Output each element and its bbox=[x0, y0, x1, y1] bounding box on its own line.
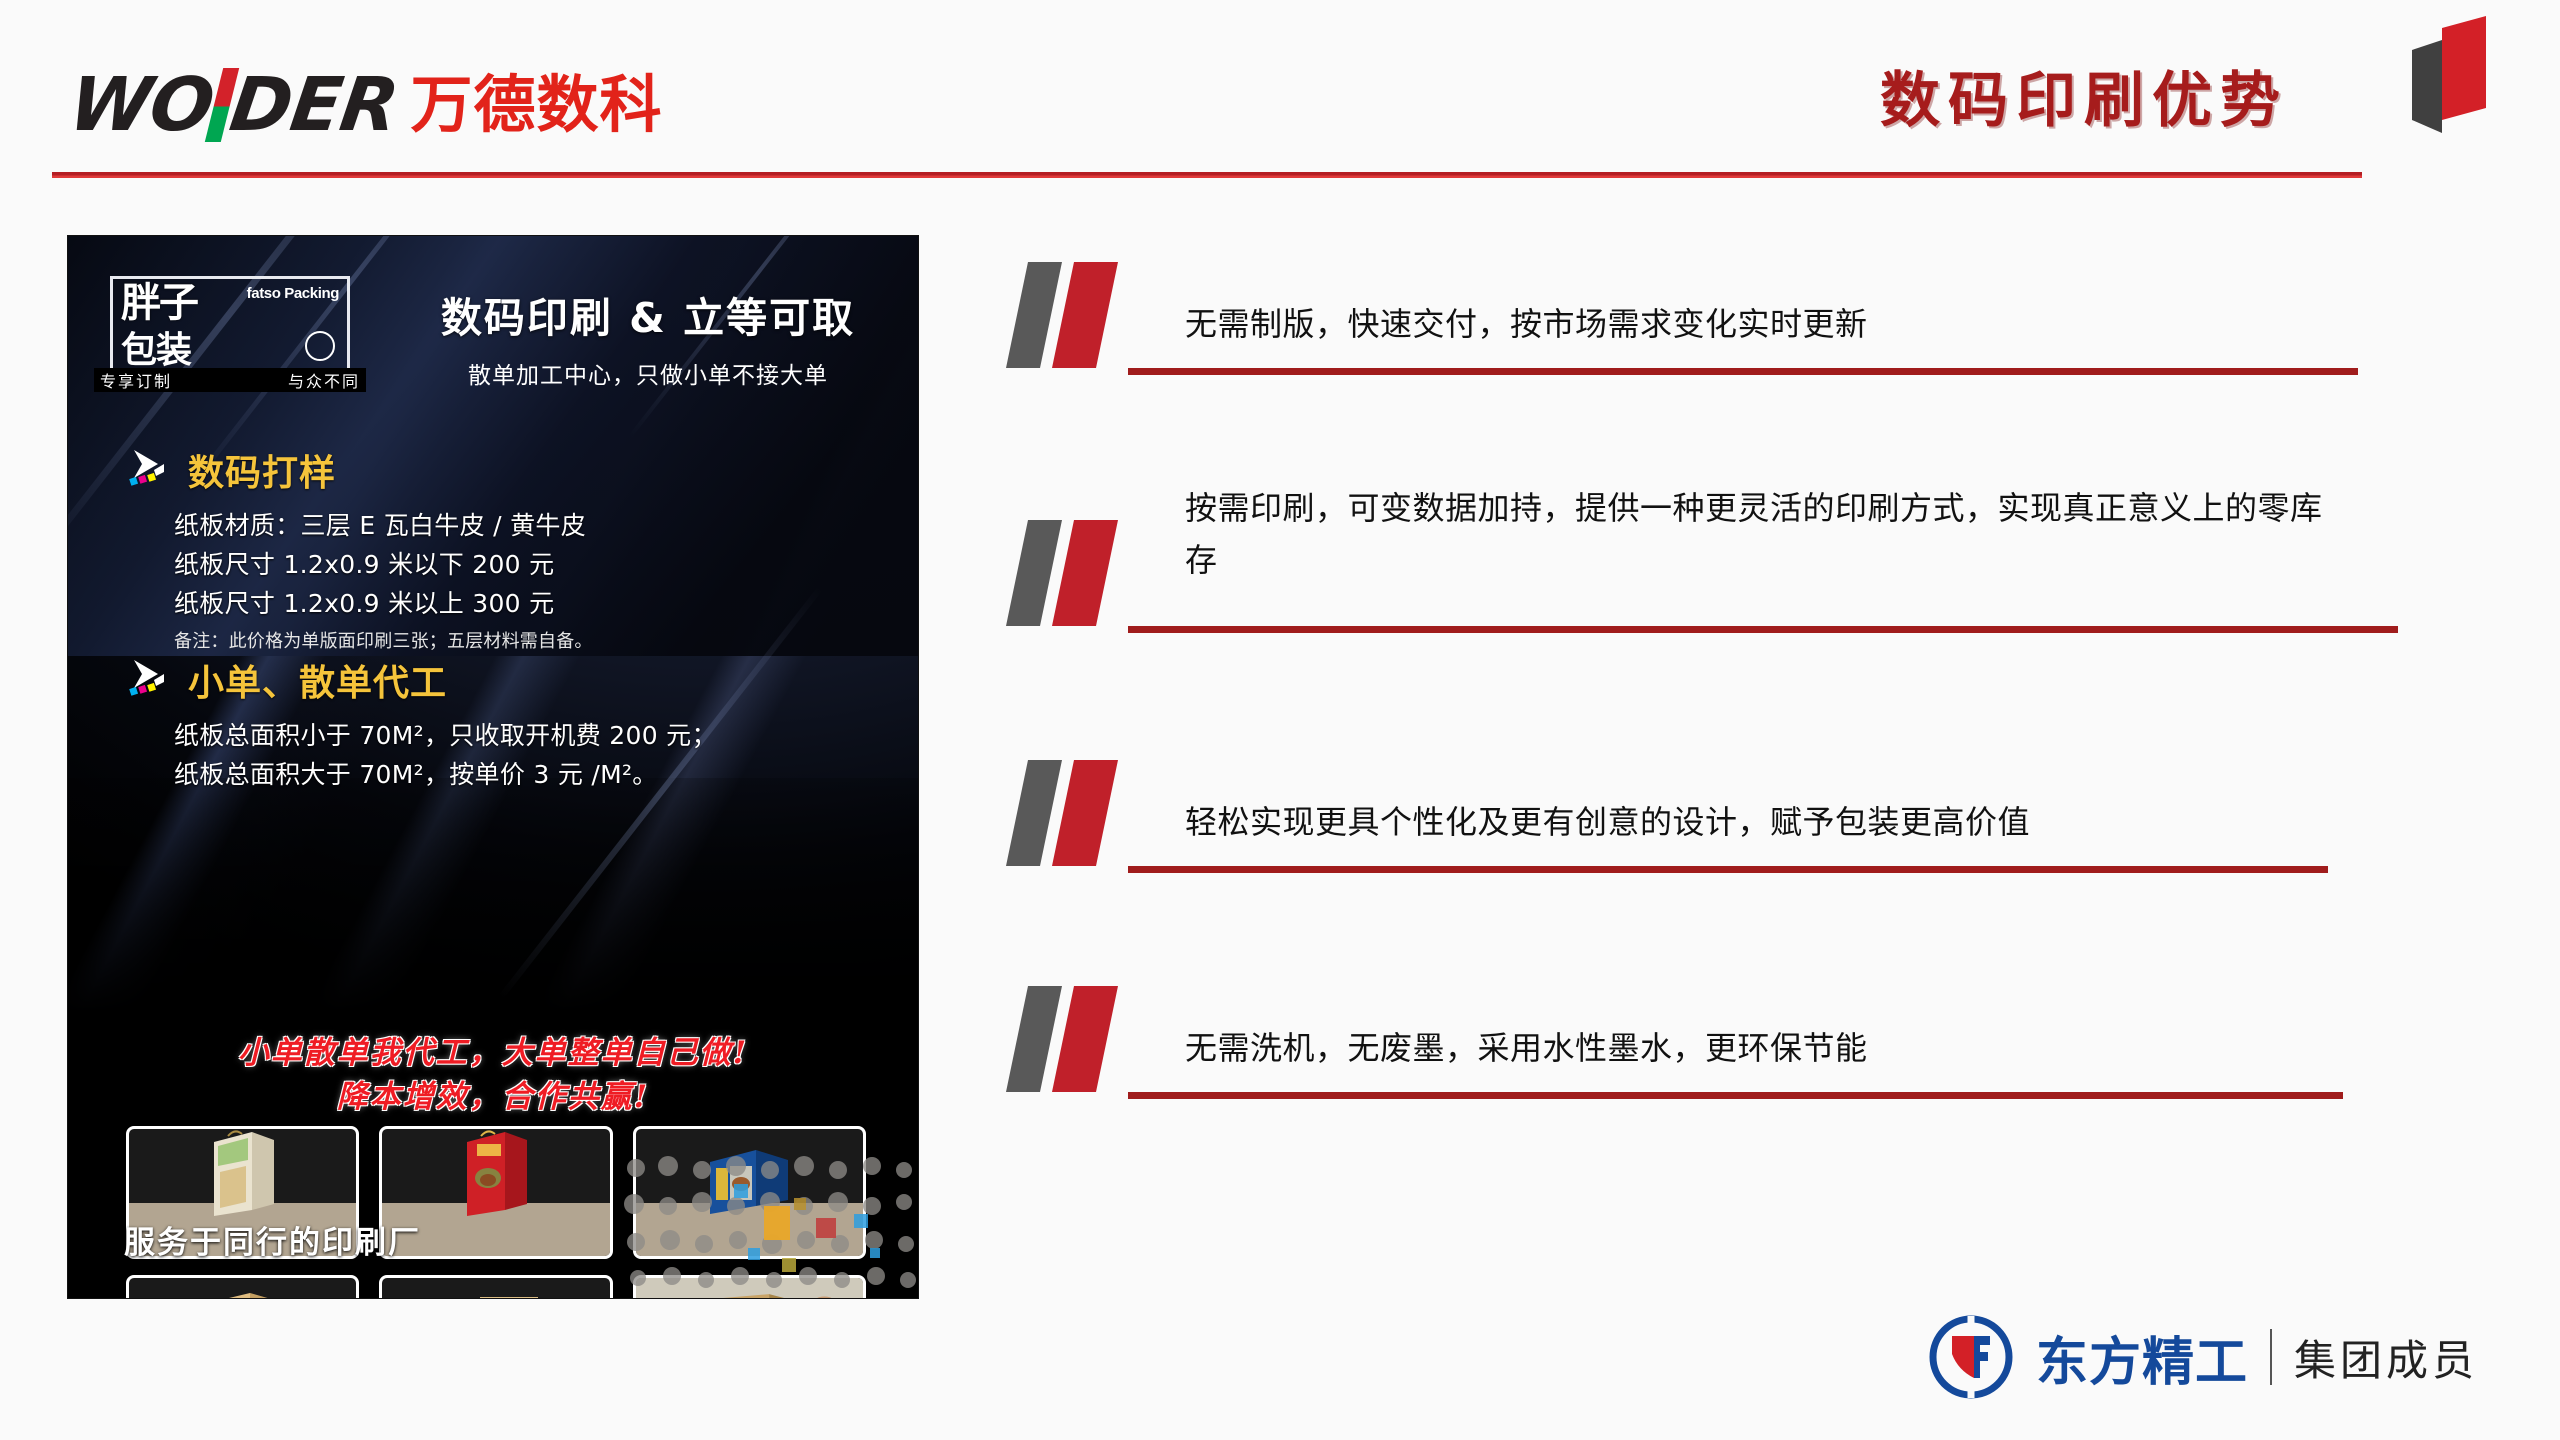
section-title: 数码打样 bbox=[188, 444, 336, 496]
product-box-kraft-icon bbox=[200, 1287, 286, 1298]
advantage-text: 按需印刷，可变数据加持，提供一种更灵活的印刷方式，实现真正意义上的零库存 bbox=[1185, 480, 2325, 594]
section-line: 纸板尺寸 1.2x0.9 米以下 200 元 bbox=[174, 545, 868, 584]
gallery-item bbox=[126, 1275, 359, 1298]
product-box-red-icon bbox=[457, 1126, 535, 1218]
product-box-honey-icon bbox=[204, 1126, 282, 1218]
advantage-text: 无需洗机，无废墨，采用水性墨水，更环保节能 bbox=[1185, 980, 2360, 1082]
fatso-tagline-left: 专享订制 bbox=[100, 368, 172, 392]
poster-subheading: 散单加工中心，只做小单不接大单 bbox=[398, 356, 898, 390]
section-line: 纸板总面积小于 70M²，只收取开机费 200 元； bbox=[174, 716, 868, 755]
poster-heading-block: 数码印刷 & 立等可取 散单加工中心，只做小单不接大单 bbox=[398, 284, 898, 390]
double-parallelogram-marker-icon bbox=[1000, 256, 1160, 374]
poster-heading: 数码印刷 & 立等可取 bbox=[398, 284, 898, 344]
advantage-text: 轻松实现更具个性化及更有创意的设计，赋予包装更高价值 bbox=[1185, 754, 2360, 856]
slogan-line-2: 降本增效，合作共赢! bbox=[68, 1075, 918, 1119]
advantages-list: 无需制版，快速交付，按市场需求变化实时更新 按需印刷，可变数据加持，提供一种更灵… bbox=[1000, 256, 2360, 1150]
section-line: 纸板尺寸 1.2x0.9 米以上 300 元 bbox=[174, 584, 868, 623]
section-body: 纸板总面积小于 70M²，只收取开机费 200 元； 纸板总面积大于 70M²，… bbox=[174, 716, 868, 794]
slide-root: WO DER 万德数科 数码印刷优势 胖子 fatso Packing 包装 专… bbox=[0, 0, 2560, 1440]
product-box-classic-icon bbox=[446, 1287, 546, 1298]
poster-slogan: 小单散单我代工，大单整单自己做! 降本增效，合作共赢! bbox=[68, 1031, 918, 1119]
slogan-line-1: 小单散单我代工，大单整单自己做! bbox=[68, 1031, 918, 1075]
section-line: 纸板总面积大于 70M²，按单价 3 元 /M²。 bbox=[174, 755, 868, 794]
page-title: 数码印刷优势 bbox=[1880, 52, 2288, 139]
promo-poster-image: 胖子 fatso Packing 包装 专享订制 与众不同 数码印刷 & 立等可… bbox=[68, 236, 918, 1298]
fatso-logo-en: fatso Packing bbox=[247, 285, 339, 302]
footer-divider bbox=[2270, 1329, 2272, 1385]
corner-parallelogram-mark-icon bbox=[2382, 8, 2502, 148]
advantage-underline bbox=[1128, 368, 2358, 375]
wonder-text-part2: DER bbox=[224, 62, 402, 148]
fatso-logo-cn1: 胖子 bbox=[121, 283, 197, 323]
advantage-item-4: 无需洗机，无废墨，采用水性墨水，更环保节能 bbox=[1000, 980, 2360, 1120]
double-parallelogram-marker-icon bbox=[1000, 514, 1160, 632]
footer-member-label: 集团成员 bbox=[2294, 1327, 2478, 1388]
wonder-wordmark: WO DER bbox=[70, 62, 397, 148]
poster-footer-text: 服务于同行的印刷厂 bbox=[124, 1217, 421, 1262]
chevron-cmyk-icon bbox=[128, 658, 174, 702]
halftone-dots-decoration bbox=[618, 1148, 918, 1298]
advantage-item-3: 轻松实现更具个性化及更有创意的设计，赋予包装更高价值 bbox=[1000, 754, 2360, 894]
advantage-underline bbox=[1128, 1092, 2343, 1099]
section-note: 备注：此价格为单版面印刷三张；五层材料需自备。 bbox=[174, 627, 868, 653]
poster-section-digital-proofing: 数码打样 纸板材质：三层 E 瓦白牛皮 / 黄牛皮 纸板尺寸 1.2x0.9 米… bbox=[128, 444, 868, 653]
advantage-item-2: 按需印刷，可变数据加持，提供一种更灵活的印刷方式，实现真正意义上的零库存 bbox=[1000, 480, 2360, 686]
section-title: 小单、散单代工 bbox=[188, 654, 447, 706]
section-header: 数码打样 bbox=[128, 444, 868, 496]
chevron-cmyk-icon bbox=[128, 448, 174, 492]
advantage-underline bbox=[1128, 866, 2328, 873]
dongfang-circle-shield-logo-icon bbox=[1928, 1314, 2014, 1400]
advantage-underline bbox=[1128, 626, 2398, 633]
header-divider bbox=[52, 172, 2362, 178]
poster-section-small-orders: 小单、散单代工 纸板总面积小于 70M²，只收取开机费 200 元； 纸板总面积… bbox=[128, 654, 868, 794]
double-parallelogram-marker-icon bbox=[1000, 980, 1160, 1098]
footer-company-name: 东方精工 bbox=[2036, 1320, 2248, 1395]
section-line: 纸板材质：三层 E 瓦白牛皮 / 黄牛皮 bbox=[174, 506, 868, 545]
company-logo: WO DER 万德数科 bbox=[70, 58, 663, 148]
fatso-logo-cn2: 包装 bbox=[121, 321, 191, 373]
gallery-item bbox=[379, 1275, 612, 1298]
footer-group-logo: 东方精工 集团成员 bbox=[1928, 1314, 2478, 1400]
fatso-logo-tagline: 专享订制 与众不同 bbox=[94, 368, 366, 392]
brand-chinese-name: 万德数科 bbox=[411, 54, 663, 144]
wonder-text-part1: WO bbox=[64, 62, 219, 148]
section-body: 纸板材质：三层 E 瓦白牛皮 / 黄牛皮 纸板尺寸 1.2x0.9 米以下 20… bbox=[174, 506, 868, 653]
fatso-logo-box: 胖子 fatso Packing 包装 bbox=[110, 276, 350, 381]
advantage-text: 无需制版，快速交付，按市场需求变化实时更新 bbox=[1185, 256, 2360, 358]
section-header: 小单、散单代工 bbox=[128, 654, 868, 706]
double-parallelogram-marker-icon bbox=[1000, 754, 1160, 872]
fatso-tagline-right: 与众不同 bbox=[288, 368, 360, 392]
advantage-item-1: 无需制版，快速交付，按市场需求变化实时更新 bbox=[1000, 256, 2360, 396]
fatso-logo-badge-icon bbox=[305, 331, 335, 361]
